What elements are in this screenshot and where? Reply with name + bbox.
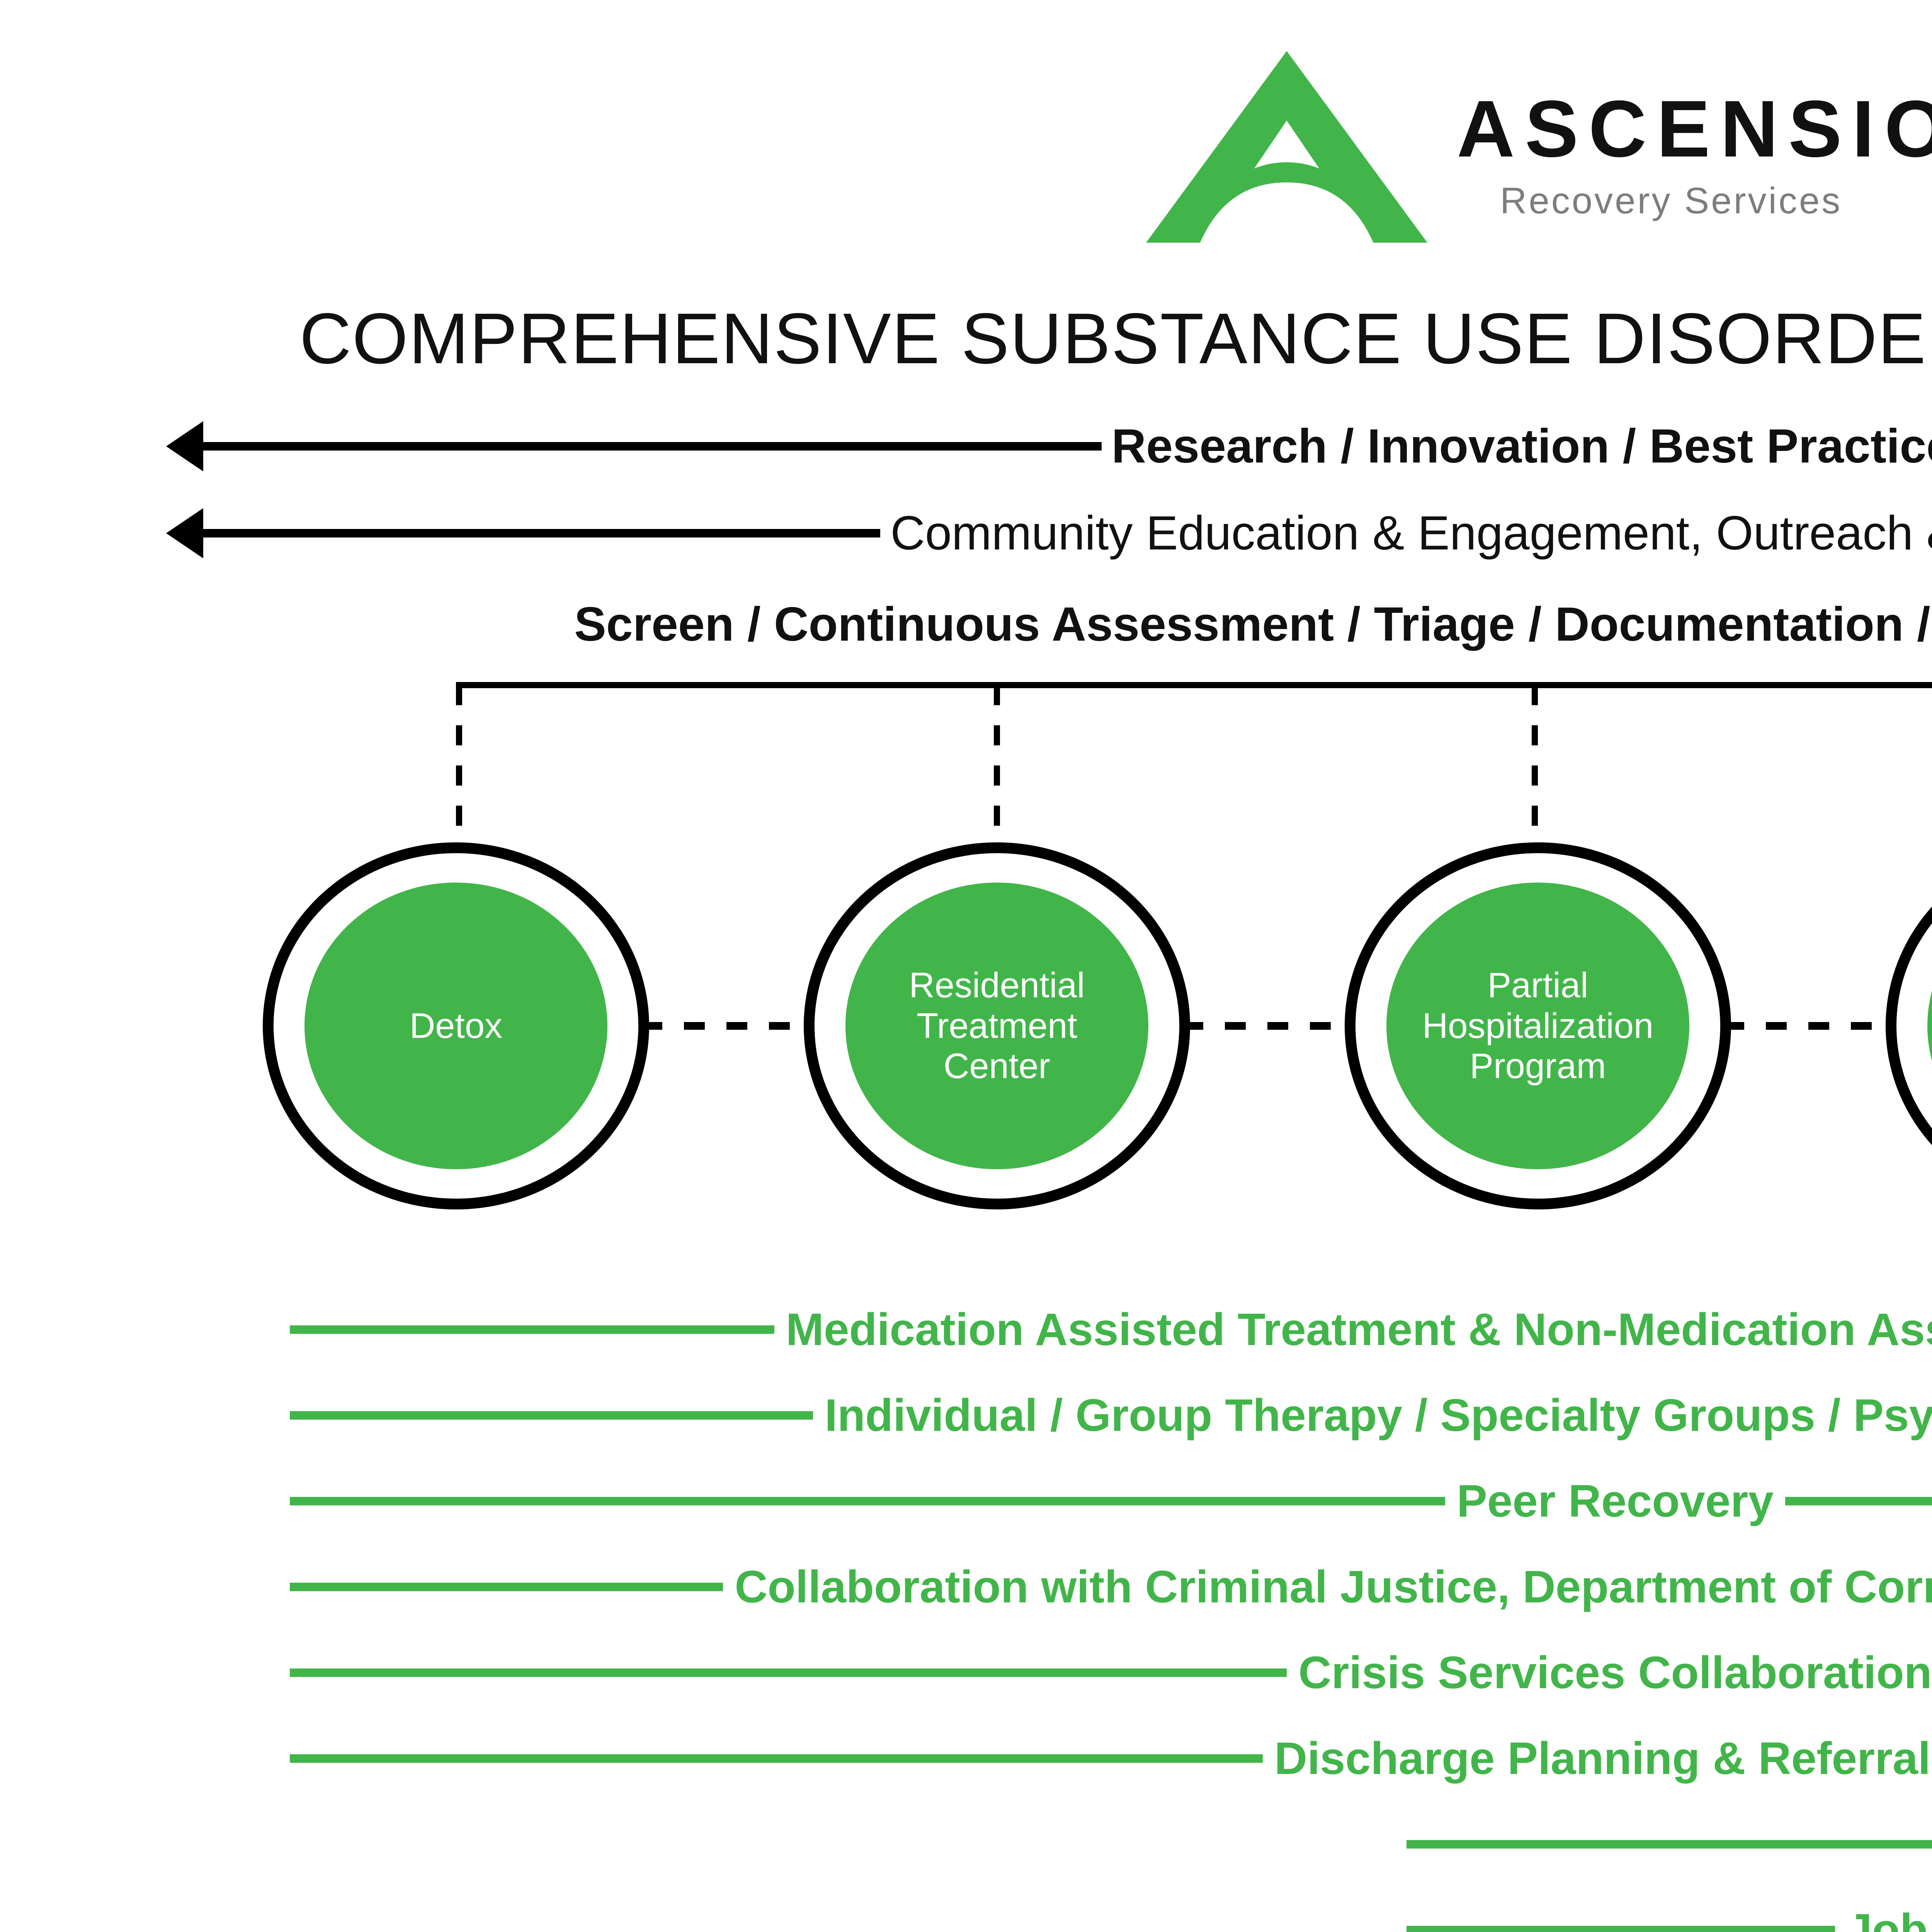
bracket-top-rail — [456, 682, 1932, 688]
band-rail-left — [203, 442, 1102, 451]
service-row-social-services[interactable]: Social Services — [1406, 1801, 1932, 1887]
band-community-education: Community Education & Engagement, Outrea… — [166, 504, 1932, 562]
service-rail-left — [290, 1325, 774, 1334]
service-row-peer-recovery[interactable]: Peer Recovery — [290, 1458, 1932, 1544]
service-label: Discharge Planning & Referrals — [1263, 1736, 1932, 1781]
stage-node-partial-hospitalization-program[interactable]: PartialHospitalizationProgram — [1345, 842, 1731, 1209]
arrow-left-head-icon — [166, 421, 203, 471]
brand-logo: ASCENSION Recovery Services — [1140, 46, 1932, 247]
continuous-services-rows: Medication Assisted Treatment & Non-Medi… — [0, 1287, 1932, 1932]
service-rail-left — [1406, 1926, 1835, 1932]
stage-node-detox[interactable]: Detox — [263, 842, 649, 1209]
service-row-job-placement-reintegration[interactable]: Job Placement / Reintegration — [1406, 1887, 1932, 1932]
infographic-canvas: ASCENSION Recovery Services COMPREHENSIV… — [0, 0, 1932, 1932]
service-label: Crisis Services Collaboration — [1287, 1650, 1932, 1696]
stage-disc: IntensiveOutpatientProgram — [1927, 883, 1932, 1169]
page-title: COMPREHENSIVE SUBSTANCE USE DISORDER CON… — [0, 298, 1932, 380]
stage-label: PartialHospitalizationProgram — [1411, 965, 1665, 1087]
continuum-stage-row: Detox ResidentialTreatmentCenter Partial… — [0, 842, 1932, 1209]
stage-label: ResidentialTreatmentCenter — [897, 965, 1096, 1087]
brand-wordmark: ASCENSION Recovery Services — [1457, 89, 1932, 219]
stage-ring: PartialHospitalizationProgram — [1345, 842, 1731, 1209]
service-row-medication-assisted-treatment[interactable]: Medication Assisted Treatment & Non-Medi… — [290, 1287, 1932, 1372]
service-label: Individual / Group Therapy / Specialty G… — [813, 1393, 1932, 1438]
service-rail-left — [290, 1497, 1445, 1505]
service-rail-right — [1785, 1497, 1932, 1505]
service-label: Collaboration with Criminal Justice, Dep… — [723, 1564, 1932, 1610]
stage-node-residential-treatment-center[interactable]: ResidentialTreatmentCenter — [804, 842, 1190, 1209]
band-label-research: Research / Innovation / Best Practices — [1102, 422, 1932, 470]
band-label-community: Community Education & Engagement, Outrea… — [880, 509, 1932, 557]
service-rail-left — [290, 1754, 1263, 1763]
stage-disc: ResidentialTreatmentCenter — [845, 883, 1148, 1169]
stage-ring: Detox — [263, 842, 649, 1209]
stage-disc: Detox — [304, 883, 607, 1169]
service-row-criminal-justice-collaboration[interactable]: Collaboration with Criminal Justice, Dep… — [290, 1544, 1932, 1630]
arrow-left-head-icon — [166, 508, 203, 558]
service-row-individual-group-therapy[interactable]: Individual / Group Therapy / Specialty G… — [290, 1372, 1932, 1458]
service-rail-left — [1406, 1840, 1932, 1849]
ascension-triangle-logo-icon — [1140, 46, 1434, 247]
service-row-crisis-services-collaboration[interactable]: Crisis Services Collaboration — [290, 1630, 1932, 1716]
stage-ring: IntensiveOutpatientProgram — [1886, 842, 1932, 1209]
brand-tagline: Recovery Services — [1500, 182, 1932, 219]
stage-ring: ResidentialTreatmentCenter — [804, 842, 1190, 1209]
service-row-discharge-planning-referrals[interactable]: Discharge Planning & Referrals — [290, 1716, 1932, 1801]
service-label: Peer Recovery — [1445, 1478, 1785, 1524]
band-rail-left — [203, 529, 880, 537]
stage-disc: PartialHospitalizationProgram — [1386, 883, 1689, 1169]
screening-criteria-line: Screen / Continuous Assessment / Triage … — [0, 597, 1932, 652]
service-rail-left — [290, 1583, 723, 1591]
service-label: Job Placement / Reintegration — [1835, 1907, 1932, 1932]
stage-node-intensive-outpatient-program[interactable]: IntensiveOutpatientProgram — [1886, 842, 1932, 1209]
bracket-drop-line — [994, 685, 1000, 847]
stage-label: Detox — [398, 1006, 514, 1046]
band-research-innovation: Research / Innovation / Best Practices — [166, 417, 1932, 475]
service-rail-left — [290, 1668, 1287, 1677]
bracket-drop-line — [456, 685, 462, 847]
service-rail-left — [290, 1411, 813, 1420]
stage-bracket — [456, 682, 1932, 844]
bracket-drop-line — [1532, 685, 1538, 847]
brand-name: ASCENSION — [1457, 89, 1932, 169]
service-label: Medication Assisted Treatment & Non-Medi… — [774, 1307, 1932, 1352]
